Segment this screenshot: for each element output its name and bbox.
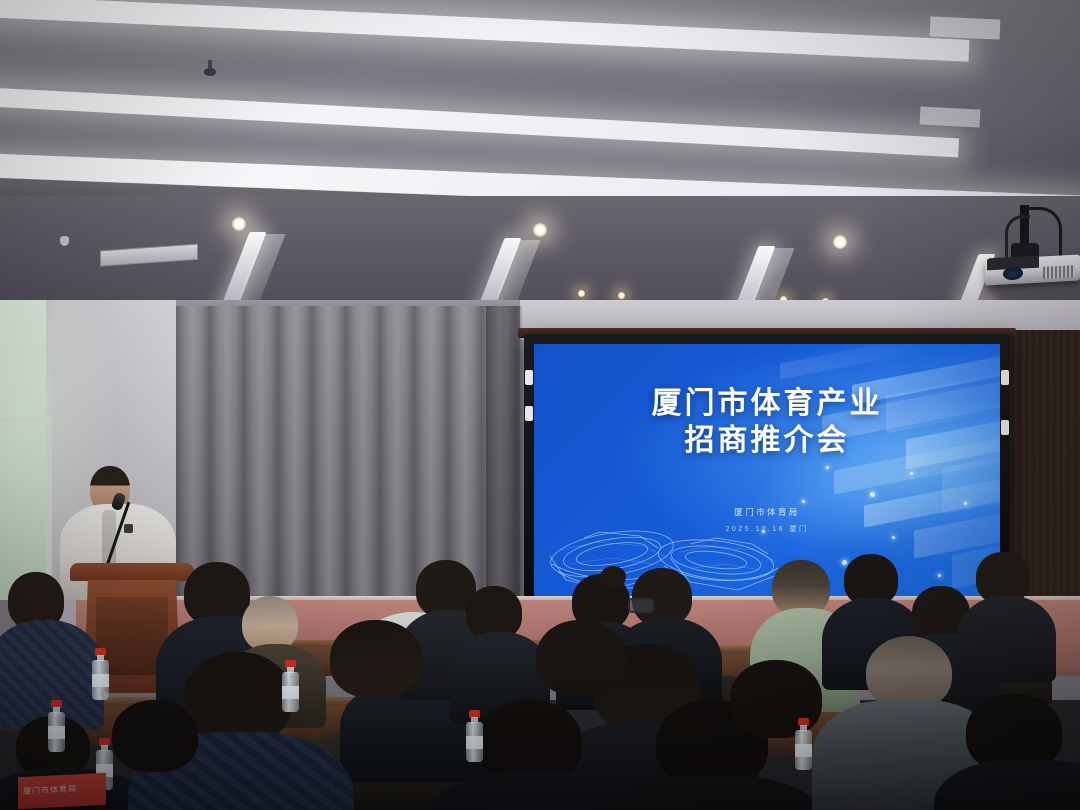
bezel-sensor-right-2: [1001, 420, 1009, 435]
water-bottle: [466, 710, 483, 762]
downlight-3: [833, 235, 847, 249]
downlight-small-1: [578, 290, 585, 297]
slide-sparkle-8: [910, 472, 913, 475]
audience-front-right-dark: [948, 694, 1080, 810]
ceiling-light-strip-2: [0, 86, 959, 157]
bottle-label: [282, 686, 299, 699]
slide-title-line-2: 招商推介会: [534, 423, 1000, 460]
slide-sparkle-2: [870, 492, 875, 497]
person-head: [330, 620, 422, 698]
ceiling: [0, 0, 1080, 335]
bezel-sensor-left-2: [525, 406, 533, 421]
ceiling-strip-end-2: [920, 106, 981, 127]
slide-date-location: 2025.12.16 厦门: [534, 523, 1000, 534]
downlight-small-2: [618, 292, 625, 299]
slide-sparkle-3: [802, 500, 805, 503]
person-head: [112, 700, 198, 772]
ceiling-strip-end-1: [930, 16, 1001, 39]
placard-text: 厦门市体育局: [23, 782, 103, 797]
water-bottle: [282, 660, 299, 712]
downlight-2: [533, 223, 547, 237]
slide-organizer: 厦门市体育局: [534, 506, 1000, 518]
slide-sparkle-9: [964, 502, 967, 505]
person-head: [536, 620, 626, 696]
slide-subtitle: 厦门市体育局 2025.12.16 厦门: [534, 506, 1000, 534]
audience-front-gray-puffer-left: [300, 620, 450, 810]
glasses-icon: [628, 598, 654, 613]
red-name-placard: 厦门市体育局: [18, 773, 106, 810]
water-bottle: [795, 718, 812, 770]
slide-sparkle-1: [826, 466, 829, 469]
person-head: [866, 636, 952, 710]
slide-sparkle-6: [938, 574, 941, 577]
bezel-sensor-left-1: [525, 370, 533, 385]
water-bottle: [48, 700, 65, 752]
sprinkler-icon: [60, 236, 69, 246]
slide-title: 厦门市体育产业 招商推介会: [534, 386, 1000, 459]
conference-hall-photo: 厦门市体育产业 招商推介会 厦门市体育局 2025.12.16 厦门: [0, 0, 1080, 810]
slide-ribbon-10: [780, 344, 920, 380]
bottle-label: [466, 736, 483, 749]
person-torso: [934, 760, 1080, 810]
audience-person-left-plaid: [0, 572, 100, 712]
bottle-label: [48, 726, 65, 739]
bezel-sensor-right-1: [1001, 370, 1009, 385]
water-bottle: [92, 648, 109, 700]
bottle-label: [795, 744, 812, 757]
smoke-detector-icon: [204, 60, 216, 75]
downlight-1: [232, 217, 246, 231]
audience-front-dark-4: [700, 660, 850, 810]
projector-vent-grille: [1043, 265, 1075, 279]
slide-title-line-1: 厦门市体育产业: [534, 386, 1000, 423]
ceiling-mounted-projector: [985, 205, 1080, 295]
ceiling-light-strip-1: [0, 0, 969, 62]
slide-sparkle-4: [892, 536, 895, 539]
bottle-label: [92, 674, 109, 687]
speaker-badge: [124, 524, 133, 533]
